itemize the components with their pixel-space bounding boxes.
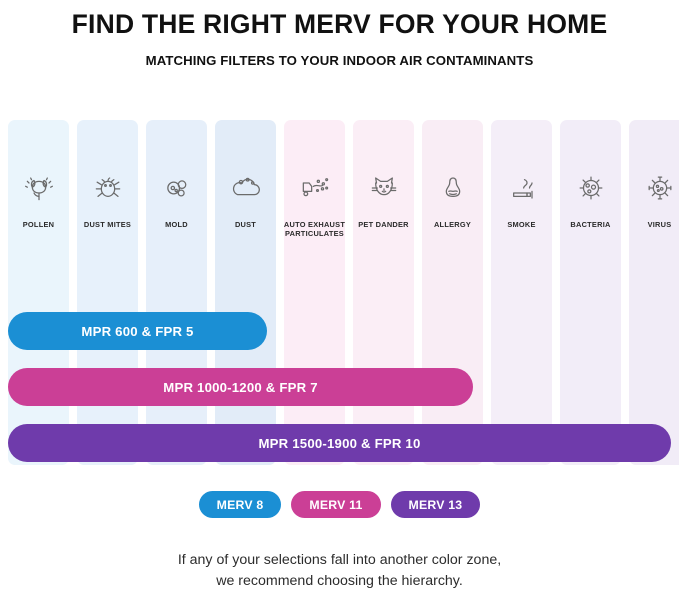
contaminant-column-dust-mites: DUST MITES bbox=[77, 120, 138, 465]
auto-exhaust-icon bbox=[284, 160, 345, 216]
page-title: FIND THE RIGHT MERV FOR YOUR HOME bbox=[0, 10, 679, 39]
pollen-icon bbox=[8, 160, 69, 216]
footer-line-2: we recommend choosing the hierarchy. bbox=[0, 571, 679, 592]
contaminant-label: DUST MITES bbox=[71, 220, 144, 229]
legend-chip-merv-11: MERV 11 bbox=[291, 491, 380, 518]
contaminant-label: ALLERGY bbox=[416, 220, 489, 229]
contaminant-columns: POLLENDUST MITESMOLDDUSTAUTO EXHAUST PAR… bbox=[8, 120, 671, 465]
virus-icon bbox=[629, 160, 679, 216]
contaminant-column-mold: MOLD bbox=[146, 120, 207, 465]
contaminant-label: PET DANDER bbox=[347, 220, 420, 229]
contaminant-label: BACTERIA bbox=[554, 220, 627, 229]
contaminant-column-pet-dander: PET DANDER bbox=[353, 120, 414, 465]
pet-dander-icon bbox=[353, 160, 414, 216]
merv-bar-blue: MPR 600 & FPR 5 bbox=[8, 312, 267, 350]
bacteria-icon bbox=[560, 160, 621, 216]
footer-note: If any of your selections fall into anot… bbox=[0, 550, 679, 591]
contaminant-column-dust: DUST bbox=[215, 120, 276, 465]
footer-line-1: If any of your selections fall into anot… bbox=[0, 550, 679, 571]
contaminant-column-allergy: ALLERGY bbox=[422, 120, 483, 465]
contaminant-column-smoke: SMOKE bbox=[491, 120, 552, 465]
allergy-icon bbox=[422, 160, 483, 216]
smoke-icon bbox=[491, 160, 552, 216]
mold-icon bbox=[146, 160, 207, 216]
legend-chip-merv-13: MERV 13 bbox=[391, 491, 481, 518]
merv-legend: MERV 8MERV 11MERV 13 bbox=[0, 491, 679, 518]
contaminant-label: SMOKE bbox=[485, 220, 558, 229]
merv-bar-pink: MPR 1000-1200 & FPR 7 bbox=[8, 368, 473, 406]
legend-chip-merv-8: MERV 8 bbox=[199, 491, 282, 518]
contaminant-column-auto-exhaust-particulates: AUTO EXHAUST PARTICULATES bbox=[284, 120, 345, 465]
page-subtitle: MATCHING FILTERS TO YOUR INDOOR AIR CONT… bbox=[0, 53, 679, 68]
dust-mite-icon bbox=[77, 160, 138, 216]
contaminant-column-virus: VIRUS bbox=[629, 120, 679, 465]
contaminant-label: DUST bbox=[209, 220, 282, 229]
contaminant-label: AUTO EXHAUST PARTICULATES bbox=[278, 220, 351, 239]
merv-bar-purple: MPR 1500-1900 & FPR 10 bbox=[8, 424, 671, 462]
dust-icon bbox=[215, 160, 276, 216]
contaminant-column-pollen: POLLEN bbox=[8, 120, 69, 465]
contaminant-label: POLLEN bbox=[2, 220, 75, 229]
contaminant-column-bacteria: BACTERIA bbox=[560, 120, 621, 465]
contaminant-label: VIRUS bbox=[623, 220, 679, 229]
infographic-page: FIND THE RIGHT MERV FOR YOUR HOME MATCHI… bbox=[0, 10, 679, 599]
contaminant-label: MOLD bbox=[140, 220, 213, 229]
